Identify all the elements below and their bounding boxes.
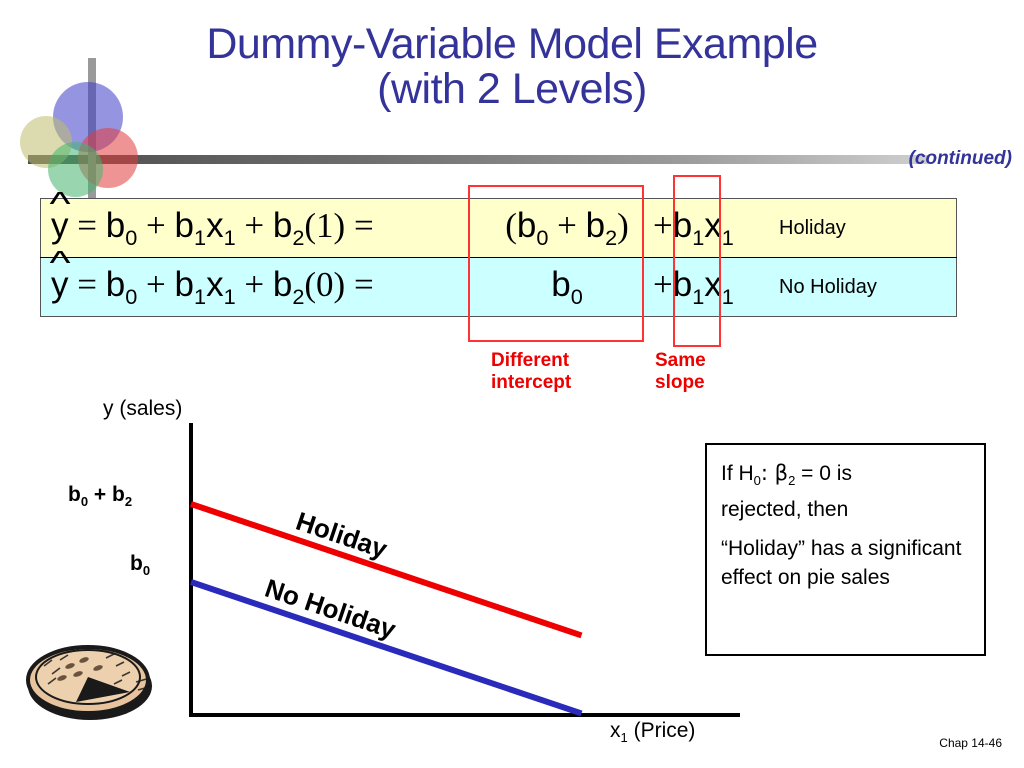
chart-y-axis-label: y (sales) (103, 397, 182, 421)
row-tag-noholiday: No Holiday (763, 258, 957, 317)
conclusion-hypothesis-text: If H (721, 462, 754, 485)
annotation-same-slope: Same slope (655, 350, 706, 394)
chart-y-axis (189, 423, 193, 715)
conclusion-beta: : β (761, 461, 788, 485)
chart-y-tick-b0-plus-b2: b0 + b2 (68, 483, 132, 509)
slide-title: Dummy-Variable Model Example (with 2 Lev… (0, 22, 1024, 112)
equation-lhs-holiday: y = b0 + b1x1 + b2(1) = (41, 199, 482, 258)
pie-clipart-icon (18, 630, 166, 728)
highlight-box-different-intercept (468, 185, 644, 342)
chart-x-axis-label: x1 (Price) (610, 719, 695, 745)
conclusion-textbox: If H0: β2 = 0 is rejected, then “Holiday… (705, 443, 986, 656)
footer-chapter-label: Chap 14-46 (939, 736, 1002, 750)
row-tag-holiday: Holiday (763, 199, 957, 258)
highlight-box-same-slope (673, 175, 721, 347)
chart-series-label-no-holiday: No Holiday (261, 573, 400, 646)
chart-y-tick-b0: b0 (130, 552, 150, 578)
annotation-different-intercept: Different intercept (491, 350, 571, 394)
chart-x-axis (189, 713, 740, 717)
continued-note: (continued) (909, 148, 1012, 170)
horizontal-rule-line (28, 155, 928, 164)
conclusion-paragraph-2: “Holiday” has a significant effect on pi… (721, 534, 974, 592)
equation-lhs-noholiday: y = b0 + b1x1 + b2(0) = (41, 258, 482, 317)
conclusion-equals-zero: = 0 is (795, 462, 852, 485)
conclusion-sub-0: 0 (754, 473, 761, 488)
conclusion-line-2: rejected, then (721, 498, 848, 521)
conclusion-line-1: If H0: β2 = 0 is rejected, then (721, 459, 974, 524)
chart-line-no-holiday (190, 579, 582, 716)
